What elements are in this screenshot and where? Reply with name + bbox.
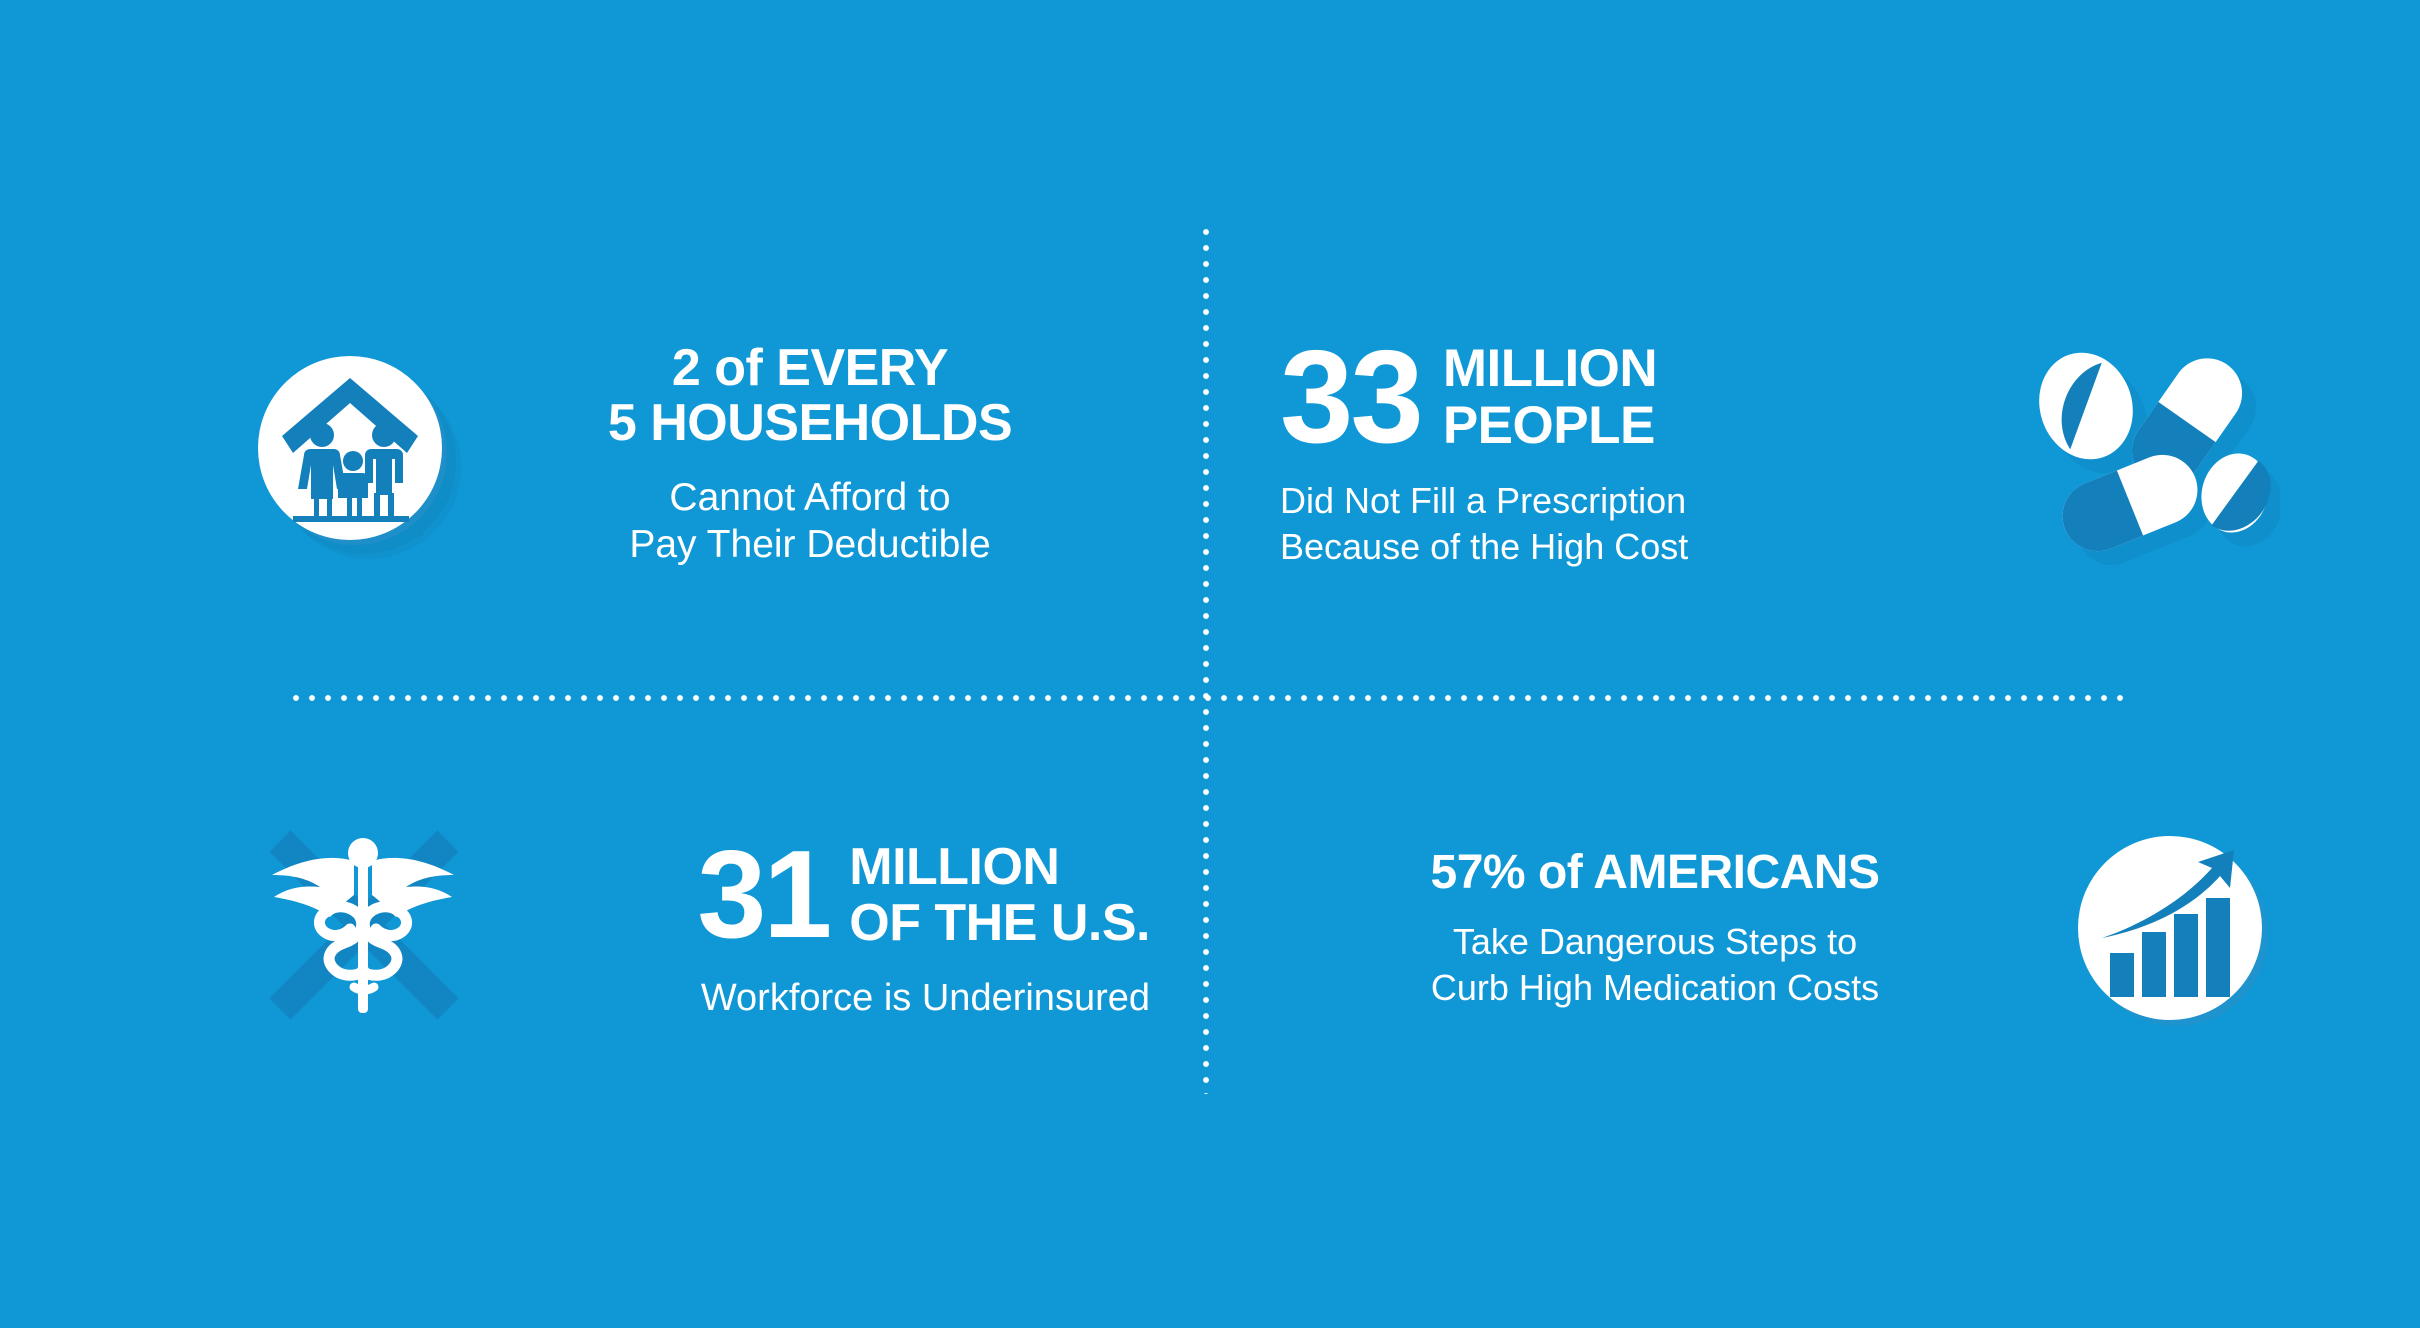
infographic-canvas: 2 of EVERY 5 HOUSEHOLDS Cannot Afford to… bbox=[0, 0, 2420, 1328]
stat-card-households-deductible: 2 of EVERY 5 HOUSEHOLDS Cannot Afford to… bbox=[250, 255, 1150, 655]
unit-line-1: MILLION bbox=[849, 839, 1150, 895]
subtext: Take Dangerous Steps to Curb High Medica… bbox=[1280, 919, 2030, 1011]
subtext-line-2: Curb High Medication Costs bbox=[1431, 967, 1879, 1008]
stat-unit: MILLION OF THE U.S. bbox=[849, 839, 1150, 951]
subtext-line-2: Pay Their Deductible bbox=[629, 523, 990, 566]
headline: 31 MILLION OF THE U.S. bbox=[498, 839, 1150, 951]
unit-line-1: MILLION bbox=[1443, 340, 1657, 397]
stat-card-prescription-not-filled: 33 MILLION PEOPLE Did Not Fill a Prescri… bbox=[1280, 255, 2280, 655]
headline-line-2: 5 HOUSEHOLDS bbox=[608, 394, 1012, 452]
subtext-line-2: Because of the High Cost bbox=[1280, 526, 1688, 567]
subtext-line-1: Workforce is Underinsured bbox=[701, 977, 1150, 1019]
headline: 33 MILLION PEOPLE bbox=[1280, 340, 2004, 454]
stat-text-households-deductible: 2 of EVERY 5 HOUSEHOLDS Cannot Afford to… bbox=[470, 341, 1150, 568]
vertical-dotted-divider bbox=[1202, 228, 1210, 1094]
headline: 57% of AMERICANS bbox=[1280, 848, 2030, 899]
headline-line-1: 2 of EVERY bbox=[672, 339, 948, 397]
subtext: Workforce is Underinsured bbox=[498, 975, 1150, 1021]
stat-text-prescription-not-filled: 33 MILLION PEOPLE Did Not Fill a Prescri… bbox=[1280, 340, 2004, 571]
stat-text-workforce-underinsured: 31 MILLION OF THE U.S. Workforce is Unde… bbox=[498, 839, 1150, 1022]
subtext: Cannot Afford to Pay Their Deductible bbox=[470, 474, 1150, 569]
subtext: Did Not Fill a Prescription Because of t… bbox=[1280, 478, 2004, 570]
stat-number: 33 bbox=[1280, 340, 1421, 454]
family-under-roof-icon bbox=[250, 343, 470, 568]
unit-line-2: PEOPLE bbox=[1443, 397, 1657, 454]
subtext-line-1: Cannot Afford to bbox=[669, 476, 950, 519]
rising-bar-chart-icon bbox=[2060, 818, 2280, 1043]
pills-capsules-icon bbox=[2030, 338, 2280, 573]
unit-line-2: OF THE U.S. bbox=[849, 895, 1150, 951]
horizontal-dotted-divider bbox=[292, 694, 2124, 702]
subtext-line-1: Did Not Fill a Prescription bbox=[1280, 480, 1686, 521]
stat-unit: MILLION PEOPLE bbox=[1443, 340, 1657, 454]
stat-card-workforce-underinsured: 31 MILLION OF THE U.S. Workforce is Unde… bbox=[250, 760, 1150, 1100]
subtext-line-1: Take Dangerous Steps to bbox=[1453, 921, 1857, 962]
headline: 2 of EVERY 5 HOUSEHOLDS bbox=[470, 341, 1150, 451]
stat-text-dangerous-steps-medication: 57% of AMERICANS Take Dangerous Steps to… bbox=[1280, 848, 2030, 1011]
caduceus-crossed-out-icon bbox=[250, 813, 480, 1048]
headline-line-1: 57% of AMERICANS bbox=[1431, 846, 1880, 899]
stat-number: 31 bbox=[697, 842, 829, 949]
stat-card-dangerous-steps-medication: 57% of AMERICANS Take Dangerous Steps to… bbox=[1280, 760, 2280, 1100]
